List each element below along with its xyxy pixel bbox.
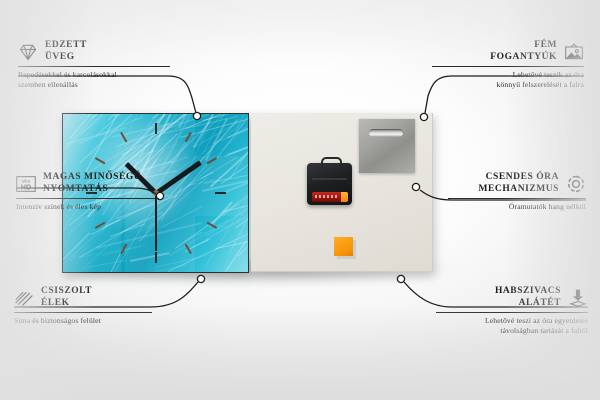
battery — [312, 192, 348, 202]
diamond-icon — [18, 42, 38, 62]
callout-title-text: FÉM FOGANTYÚK — [490, 40, 557, 63]
callout-title-row: CSISZOLT ÉLEK — [14, 286, 152, 309]
callout-title-row: EDZETT ÜVEG — [18, 40, 170, 63]
callout-divider — [18, 66, 170, 67]
callout-silent-mechanism: CSENDES ÓRA MECHANIZMUS Óramutatók hang … — [448, 172, 586, 212]
callout-description: Intenzív színek és éles kép — [16, 202, 159, 212]
quartz-mechanism — [307, 163, 352, 205]
callout-title-row: HABSZIVACS ALÁTÉT — [436, 286, 588, 309]
callout-description: Lehetővé teszi az óra egyenletes távolsá… — [436, 316, 588, 335]
callout-divider — [14, 312, 152, 313]
callout-title-text: MAGAS MINŐSÉGŰ NYOMTATÁS — [43, 172, 141, 195]
foam-pad-icon — [568, 288, 588, 308]
mechanism-seam — [312, 178, 347, 180]
callout-description: Lehetővé teszik az óra könnyű felszerelé… — [432, 70, 584, 89]
callout-polished-edges: CSISZOLT ÉLEK Sima és biztonságos felüle… — [14, 286, 152, 326]
clock-tick — [155, 123, 157, 134]
clock-back-panel — [251, 113, 433, 272]
gear-icon — [566, 174, 586, 194]
svg-text:HD: HD — [21, 182, 32, 191]
callout-divider — [436, 312, 588, 313]
callout-title-row: ultra HD MAGAS MINŐSÉGŰ NYOMTATÁS — [16, 172, 159, 195]
callout-high-quality-print: ultra HD MAGAS MINŐSÉGŰ NYOMTATÁS Intenz… — [16, 172, 159, 212]
clock-tick — [215, 192, 226, 194]
callout-title-row: CSENDES ÓRA MECHANIZMUS — [448, 172, 586, 195]
callout-description: Óramutatók hang nélkül — [448, 202, 586, 212]
callout-divider — [432, 66, 584, 67]
mechanism-bail — [321, 157, 342, 168]
callout-title-text: EDZETT ÜVEG — [45, 40, 87, 63]
callout-tempered-glass: EDZETT ÜVEG Repedésekkel és karcolásokka… — [18, 40, 170, 89]
callout-description: Repedésekkel és karcolásokkal szemben el… — [18, 70, 170, 89]
ultra-hd-icon: ultra HD — [16, 174, 36, 194]
clock-tick — [155, 252, 157, 263]
callout-title-text: HABSZIVACS ALÁTÉT — [495, 286, 561, 309]
callout-divider — [448, 198, 586, 199]
foam-pad — [334, 237, 353, 256]
callout-foam-pad: HABSZIVACS ALÁTÉT Lehetővé teszi az óra … — [436, 286, 588, 335]
polished-edges-icon — [14, 288, 34, 308]
callout-title-row: FÉM FOGANTYÚK — [432, 40, 584, 63]
callout-description: Sima és biztonságos felület — [14, 316, 152, 326]
callout-divider — [16, 198, 159, 199]
infographic-canvas: EDZETT ÜVEG Repedésekkel és karcolásokka… — [0, 0, 600, 400]
callout-metal-handles: FÉM FOGANTYÚK Lehetővé teszik az óra kön… — [432, 40, 584, 89]
picture-hanger-icon — [564, 42, 584, 62]
callout-title-text: CSISZOLT ÉLEK — [41, 286, 92, 309]
callout-title-text: CSENDES ÓRA MECHANIZMUS — [479, 172, 559, 195]
metal-hanger-icon — [359, 119, 415, 173]
